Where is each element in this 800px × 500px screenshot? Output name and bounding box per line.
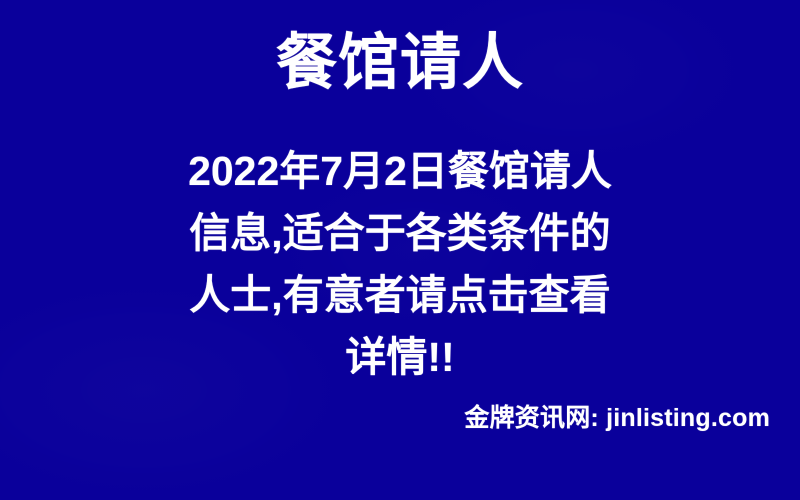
poster-footer-website: 金牌资讯网: jinlisting.com xyxy=(0,403,800,433)
body-line-4: 详情!! xyxy=(100,326,700,388)
poster-title: 餐馆请人 xyxy=(0,26,800,98)
ad-poster: 餐馆请人 2022年7月2日餐馆请人 信息,适合于各类条件的 人士,有意者请点击… xyxy=(0,0,800,500)
body-line-2: 信息,适合于各类条件的 xyxy=(100,202,700,264)
body-line-1: 2022年7月2日餐馆请人 xyxy=(100,140,700,202)
poster-body-text: 2022年7月2日餐馆请人 信息,适合于各类条件的 人士,有意者请点击查看 详情… xyxy=(100,140,700,388)
body-line-3: 人士,有意者请点击查看 xyxy=(100,264,700,326)
